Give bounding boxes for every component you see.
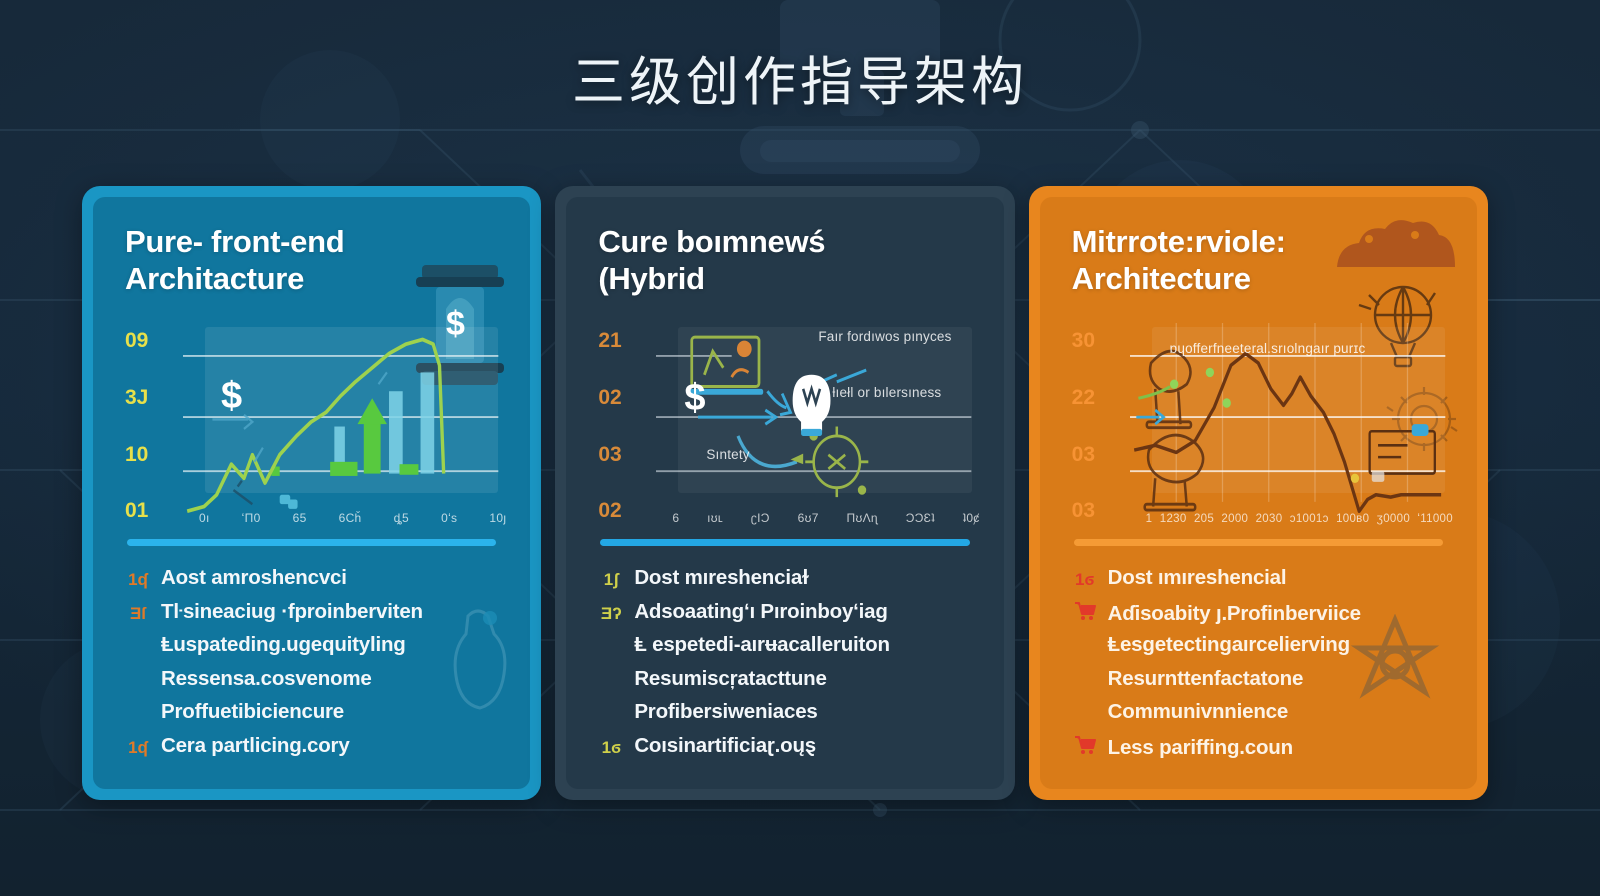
list-item[interactable]: 1ʃ Dost mıreshenciaɫ bbox=[598, 566, 971, 600]
chart-svg bbox=[656, 323, 971, 523]
x-axis-labels: 0ı ʻΠ0 65 6Cȟ ȡ5 0ʻs 10ȷ bbox=[199, 511, 506, 525]
x-tick: 0ı bbox=[199, 511, 210, 525]
list-item-label: Ressensa.cosvenome bbox=[161, 667, 372, 691]
garbled-16-icon: 1ϭ bbox=[598, 739, 624, 756]
garbled-10-icon: 1ʠ bbox=[125, 739, 151, 756]
x-tick: ʇ0ȼ bbox=[963, 511, 980, 525]
x-tick: ıʊʟ bbox=[707, 511, 723, 525]
card-title: Mitrrote:rviole: Architecture bbox=[1072, 223, 1445, 297]
card-microservice[interactable]: Mitrrote:rviole: Architecture bbox=[1029, 186, 1488, 800]
y-axis-labels: 09 3J 10 01 bbox=[125, 323, 177, 523]
y-tick: 02 bbox=[598, 386, 650, 410]
chart-note: Sıntety bbox=[706, 447, 749, 462]
card2-bullet-list: 1ʃ Dost mıreshenciaɫ Ǝʔ Adsoaatingʻı Pır… bbox=[598, 566, 971, 767]
chart-note: ɒɥofferfneeteral.srıolngaır purɪc bbox=[1170, 341, 1366, 356]
list-item[interactable]: Proffuetibiciencure bbox=[125, 700, 498, 734]
x-tick: 6Cȟ bbox=[339, 511, 362, 525]
list-item-label: Ⱡuspateding.ugequityling bbox=[161, 633, 406, 657]
y-tick: 01 bbox=[125, 499, 177, 523]
y-tick: 30 bbox=[1072, 329, 1124, 353]
list-item-label: Tŀsineaciug ·fproinberviten bbox=[161, 600, 423, 624]
x-tick: 6 bbox=[672, 511, 679, 525]
card-inner: Mitrrote:rviole: Architecture bbox=[1040, 197, 1477, 789]
card2-divider bbox=[600, 539, 969, 546]
card3-chart: 30 22 03 03 bbox=[1072, 323, 1445, 523]
y-axis-labels: 30 22 03 03 bbox=[1072, 323, 1124, 523]
x-tick: ʻ11000 bbox=[1417, 513, 1452, 525]
x-axis-labels: 6 ıʊʟ ʗIƆ 6ʊ7 ΠʊΛɳ ƆƆƐʇ ʇ0ȼ bbox=[672, 511, 979, 525]
list-item-label: Aɗisoabity ȷ.Profinberviice bbox=[1108, 602, 1361, 626]
dollar-overlay-glyph: $ bbox=[684, 377, 705, 420]
y-tick: 10 bbox=[125, 443, 177, 467]
plot-area: $ 0ı ʻΠ0 65 6Cȟ ȡ5 0ʻs 10ȷ bbox=[183, 323, 498, 523]
x-tick: ΠʊΛɳ bbox=[847, 511, 878, 525]
list-item[interactable]: Less pariffing.coun bbox=[1072, 734, 1445, 768]
x-axis-labels: 1 1230 205 2000 2030 ɔ1001ɔ 100ʙ0 ʒ0000 … bbox=[1146, 513, 1453, 525]
card1-bullet-list: 1ʠ Aost amroshencvci Ǝſ Tŀsineaciug ·fpr… bbox=[125, 566, 498, 767]
x-tick: ʗIƆ bbox=[751, 511, 770, 525]
list-item-label: Resumiscŗatacttune bbox=[634, 667, 826, 691]
list-item-label: Resurnttenfactatone bbox=[1108, 667, 1304, 691]
list-item[interactable]: 1ϭ Coısinartificiaɽ.oųȿ bbox=[598, 734, 971, 768]
y-tick: 02 bbox=[598, 499, 650, 523]
dollar-overlay-glyph: $ bbox=[221, 375, 242, 418]
card2-chart: 21 02 03 02 bbox=[598, 323, 971, 523]
list-item-label: Cera partlicing.cory bbox=[161, 734, 350, 758]
plot-area: $ Faır fordıwos pınyces ƚıełl or bılersı… bbox=[656, 323, 971, 523]
card1-divider bbox=[127, 539, 496, 546]
cart-icon bbox=[1072, 601, 1098, 624]
list-item-label: Coısinartificiaɽ.oųȿ bbox=[634, 734, 816, 758]
x-tick: ȡ5 bbox=[394, 511, 409, 525]
x-tick: 0ʻs bbox=[441, 511, 457, 525]
list-item[interactable]: Ǝſ Tŀsineaciug ·fproinberviten bbox=[125, 600, 498, 634]
list-item-label: Dost mıreshenciaɫ bbox=[634, 566, 808, 590]
list-item[interactable]: Ressensa.cosvenome bbox=[125, 667, 498, 701]
x-tick: 2000 bbox=[1221, 513, 1248, 525]
list-item-label: Less pariffing.coun bbox=[1108, 736, 1293, 760]
card-title: Cure boımnewś (Hybrid bbox=[598, 223, 971, 297]
list-item[interactable]: Ⱡesgetectingaırcelierving bbox=[1072, 633, 1445, 667]
card3-bullet-list: 1ϭ Dost ımıreshencial Aɗisoabity ȷ.Profi… bbox=[1072, 566, 1445, 767]
x-tick: 65 bbox=[293, 511, 307, 525]
list-item[interactable]: Aɗisoabity ȷ.Profinberviice bbox=[1072, 600, 1445, 634]
card-row: Pure- front-end Architacture $ 09 3J bbox=[82, 186, 1488, 800]
page-title: 三级创作指导架构 bbox=[0, 40, 1600, 116]
card-inner: Cure boımnewś (Hybrid 21 02 03 02 bbox=[566, 197, 1003, 789]
garbled-14-icon: 1ʃ bbox=[598, 571, 624, 588]
x-tick: ƆƆƐʇ bbox=[906, 511, 935, 525]
list-item-label: Adsoaatingʻı Pıroinboyʻiag bbox=[634, 600, 887, 624]
list-item-label: Profibersiweniaces bbox=[634, 700, 817, 724]
card1-chart: 09 3J 10 01 bbox=[125, 323, 498, 523]
list-item-label: Ⱡ espetedi-aırʉacalleruiton bbox=[634, 633, 889, 657]
y-tick: 03 bbox=[1072, 499, 1124, 523]
x-tick: 10ȷ bbox=[489, 511, 506, 525]
plot-area: ɒɥofferfneeteral.srıolngaır purɪc 1 1230… bbox=[1130, 323, 1445, 523]
y-tick: 09 bbox=[125, 329, 177, 353]
chart-svg bbox=[183, 323, 498, 523]
garbled-16-icon: 1ϭ bbox=[1072, 571, 1098, 588]
x-tick: ʻΠ0 bbox=[242, 511, 261, 525]
card-pure-front-end[interactable]: Pure- front-end Architacture $ 09 3J bbox=[82, 186, 541, 800]
list-item-label: Ⱡesgetectingaırcelierving bbox=[1108, 633, 1350, 657]
chart-note: ƚıełl or bılersıness bbox=[832, 385, 941, 400]
list-item[interactable]: Communivnnience bbox=[1072, 700, 1445, 734]
list-item[interactable]: Resumiscŗatacttune bbox=[598, 667, 971, 701]
garbled-e1-icon: Ǝſ bbox=[125, 605, 151, 622]
garbled-e-icon: Ǝʔ bbox=[598, 605, 624, 622]
x-tick: ɔ1001ɔ bbox=[1290, 513, 1329, 525]
y-axis-labels: 21 02 03 02 bbox=[598, 323, 650, 523]
y-tick: 22 bbox=[1072, 386, 1124, 410]
list-item[interactable]: Profibersiweniaces bbox=[598, 700, 971, 734]
list-item-label: Proffuetibiciencure bbox=[161, 700, 344, 724]
card-title: Pure- front-end Architacture bbox=[125, 223, 498, 297]
list-item[interactable]: 1ϭ Dost ımıreshencial bbox=[1072, 566, 1445, 600]
list-item-label: Dost ımıreshencial bbox=[1108, 566, 1287, 590]
list-item-label: Communivnnience bbox=[1108, 700, 1288, 724]
x-tick: 6ʊ7 bbox=[798, 511, 819, 525]
list-item[interactable]: Ⱡ espetedi-aırʉacalleruiton bbox=[598, 633, 971, 667]
x-tick: ʒ0000 bbox=[1377, 513, 1410, 525]
list-item[interactable]: Ⱡuspateding.ugequityling bbox=[125, 633, 498, 667]
x-tick: 1 bbox=[1146, 513, 1153, 525]
garbled-10-icon: 1ʠ bbox=[125, 571, 151, 588]
card-hybrid[interactable]: Cure boımnewś (Hybrid 21 02 03 02 bbox=[555, 186, 1014, 800]
list-item[interactable]: Ǝʔ Adsoaatingʻı Pıroinboyʻiag bbox=[598, 600, 971, 634]
list-item[interactable]: 1ʠ Aost amroshencvci bbox=[125, 566, 498, 600]
y-tick: 3J bbox=[125, 386, 177, 410]
x-tick: 205 bbox=[1194, 513, 1214, 525]
list-item[interactable]: 1ʠ Cera partlicing.cory bbox=[125, 734, 498, 768]
y-tick: 03 bbox=[598, 443, 650, 467]
chart-note: Faır fordıwos pınyces bbox=[818, 329, 951, 344]
x-tick: 2030 bbox=[1256, 513, 1283, 525]
list-item[interactable]: Resurnttenfactatone bbox=[1072, 667, 1445, 701]
lightbulb-icon bbox=[793, 375, 831, 436]
x-tick: 1230 bbox=[1160, 513, 1187, 525]
y-tick: 03 bbox=[1072, 443, 1124, 467]
card-inner: Pure- front-end Architacture $ 09 3J bbox=[93, 197, 530, 789]
y-tick: 21 bbox=[598, 329, 650, 353]
card3-divider bbox=[1074, 539, 1443, 546]
list-item-label: Aost amroshencvci bbox=[161, 566, 347, 590]
x-tick: 100ʙ0 bbox=[1336, 513, 1369, 525]
cart-icon bbox=[1072, 735, 1098, 758]
